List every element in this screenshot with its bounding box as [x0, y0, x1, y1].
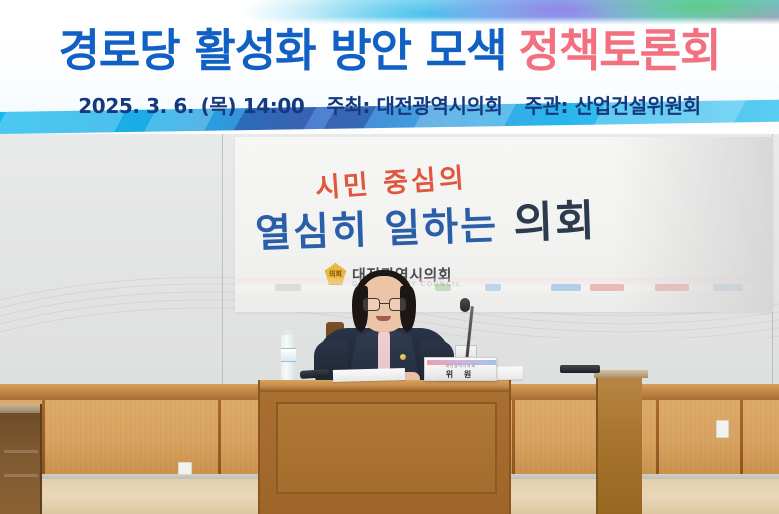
front-desk	[258, 380, 511, 514]
wood-seam-5	[740, 400, 743, 479]
desk-device	[560, 365, 600, 373]
wood-seam-3	[512, 400, 515, 479]
banner-organizer: 주관: 산업건설위원회	[525, 94, 701, 118]
bottle-label	[281, 348, 296, 362]
wood-seam-4	[656, 400, 659, 479]
eyeglasses-icon	[363, 298, 406, 311]
wall-outlet-left	[178, 462, 192, 475]
banner-host: 주최: 대전광역시의회	[326, 94, 502, 118]
microphone-head-icon	[460, 298, 470, 312]
wood-seam-1	[42, 400, 45, 479]
banner-subtitle: 2025. 3. 6. (목) 14:00주최: 대전광역시의회주관: 산업건설…	[0, 90, 779, 119]
screen-calligraphy-line2: 열심히 일하는 의회	[254, 186, 598, 260]
water-bottle	[281, 330, 296, 380]
wall-seam-left	[222, 131, 223, 386]
event-banner: 경로당 활성화 방안 모색정책토론회 2025. 3. 6. (목) 14:00…	[0, 0, 779, 134]
nameplate-name: 위 원	[446, 369, 476, 380]
banner-top-gradient	[0, 0, 779, 26]
side-desk-right	[596, 370, 642, 514]
calligraphy-text-dark: 의회	[513, 196, 598, 249]
banner-date: 2025. 3. 6. (목) 14:00	[78, 94, 304, 118]
banner-title-red: 정책토론회	[519, 24, 721, 77]
desk-nameplate: 대전광역시의회 위 원	[424, 357, 497, 381]
photo-scene: 시민 중심의 열심히 일하는 의회 의회 대전광역시의회 DAEJEON CIT…	[0, 0, 779, 514]
wall-outlet-right	[716, 420, 729, 438]
banner-title-blue: 경로당 활성화 방안 모색	[58, 24, 506, 77]
screen-glare	[613, 137, 773, 312]
wood-seam-2	[218, 400, 221, 479]
documents-left	[333, 368, 405, 382]
projection-screen: 시민 중심의 열심히 일하는 의회 의회 대전광역시의회 DAEJEON CIT…	[235, 137, 773, 312]
microphone-stem	[465, 306, 473, 362]
banner-title: 경로당 활성화 방안 모색정책토론회	[0, 24, 779, 79]
side-desk-left	[0, 404, 42, 514]
lapel-pin-icon	[400, 354, 406, 360]
calligraphy-text-blue: 열심히 일하는	[255, 203, 499, 256]
nameplate-stripe	[427, 360, 496, 365]
